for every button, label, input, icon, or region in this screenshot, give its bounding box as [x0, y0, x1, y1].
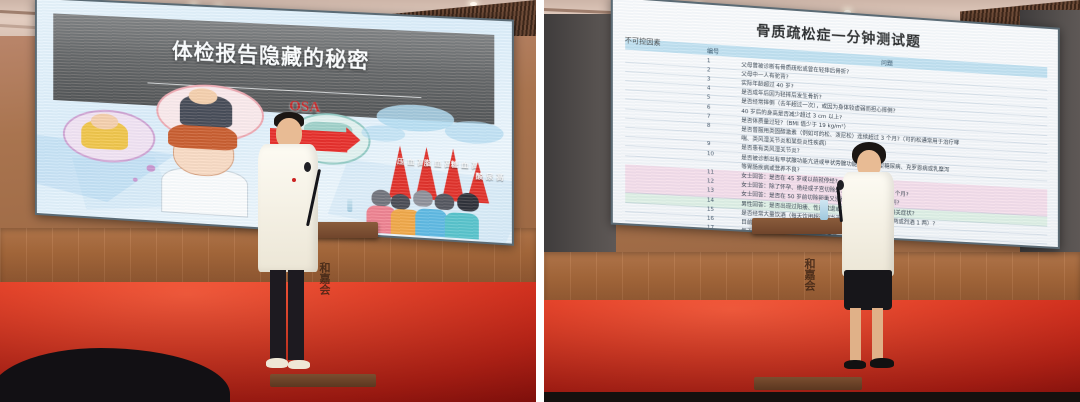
floor-front-edge [544, 392, 1080, 402]
speaker-white-coat [842, 172, 894, 276]
lapel-badge [292, 178, 296, 182]
female-speaker [832, 142, 904, 380]
speaker-leg [850, 308, 861, 362]
microphone-head [304, 162, 311, 172]
podium-calligraphy: 和嘉会 [800, 258, 816, 291]
male-speaker [252, 112, 322, 382]
right-photo-panel: 骨质疏松症一分钟测试题 编号 问题 不可控因素 生活方式 （可控因素） 1父母曾… [544, 0, 1080, 402]
speaker-heel [844, 360, 866, 369]
speaker-heel [870, 358, 894, 368]
podium-column: 和嘉会 [777, 232, 840, 378]
left-dark-panel [544, 14, 616, 286]
speaker-leg [288, 270, 304, 360]
speaker-skirt [844, 270, 892, 310]
screenshot-root: 体检报告隐藏的秘密 OSA [0, 0, 1080, 402]
speaker-shoe [288, 360, 310, 369]
left-photo-panel: 体检报告隐藏的秘密 OSA [0, 0, 536, 402]
water-bottle [820, 200, 828, 220]
speaker-leg [872, 308, 883, 360]
microphone-head [837, 180, 844, 190]
speaker-leg [270, 270, 286, 360]
speaker-shoe [266, 358, 288, 368]
panel-divider [536, 0, 544, 402]
